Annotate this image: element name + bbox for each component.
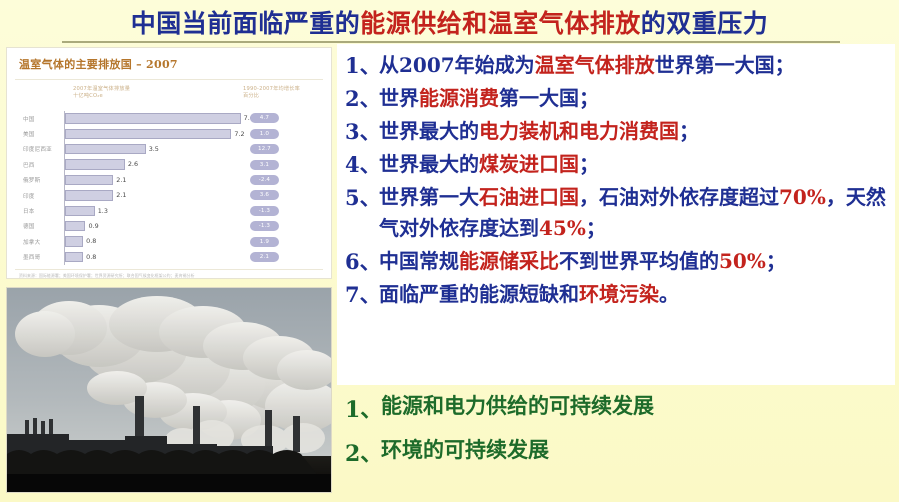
- slide-canvas: 中国当前面临严重的能源供给和温室气体排放的双重压力 温室气体的主要排放国 – 2…: [0, 0, 899, 502]
- chart-growth-pill: 12.7: [250, 144, 279, 154]
- chart-row-label: 印度: [15, 192, 64, 200]
- key-facts-panel: 1、从2007年始成为温室气体排放世界第一大国；2、世界能源消费第一大国；3、世…: [337, 44, 895, 385]
- chart-bar-track: 7.6: [64, 111, 236, 126]
- highlight-text: 50%: [719, 249, 766, 273]
- body-text: 世界第一大: [379, 185, 479, 209]
- chart-colhead-left-line2: 十亿吨CO₂e: [73, 93, 130, 100]
- chart-bar-track: 0.9: [64, 219, 236, 234]
- chart-bar-track: 1.3: [64, 203, 236, 218]
- goal-list-item-text: 环境的可持续发展: [381, 436, 549, 464]
- chart-row-label: 墨西哥: [15, 253, 64, 261]
- highlight-text: 45%: [539, 216, 586, 240]
- chart-row: 德国0.9-1.3: [15, 219, 323, 234]
- body-text: ，石油对外依存度超过: [579, 185, 779, 209]
- chart-bar: [65, 159, 125, 169]
- goal-list-item-text: 能源和电力供给的可持续发展: [381, 392, 654, 420]
- body-text: ；: [766, 249, 786, 273]
- chart-row: 美国7.21.0: [15, 126, 323, 141]
- chart-bar-track: 2.1: [64, 188, 236, 203]
- fact-list-item-number: 3、: [345, 116, 379, 146]
- chart-footer-divider: [15, 269, 323, 270]
- fact-list-item-text: 世界最大的煤炭进口国；: [379, 149, 889, 180]
- chart-bar: [65, 129, 232, 139]
- chart-bar-value: 0.8: [86, 253, 96, 261]
- blue-numbered-list: 1、从2007年始成为温室气体排放世界第一大国；2、世界能源消费第一大国；3、世…: [345, 50, 889, 312]
- chart-growth-pill: -2.4: [250, 175, 279, 185]
- emissions-chart-card: 温室气体的主要排放国 – 2007 2007年温室气体排放量 十亿吨CO₂e 1…: [6, 47, 332, 279]
- chart-bar-track: 2.6: [64, 157, 236, 172]
- green-goals-list: 1、能源和电力供给的可持续发展2、环境的可持续发展: [345, 392, 899, 480]
- chart-growth-pill: -1.3: [250, 221, 279, 231]
- chart-row-label: 印度尼西亚: [15, 145, 64, 153]
- chart-row: 墨西哥0.82.1: [15, 250, 323, 265]
- body-text: 从: [379, 53, 399, 77]
- chart-growth-pill: -1.3: [250, 206, 279, 216]
- chart-row-label: 日本: [15, 207, 64, 215]
- chart-bar: [65, 190, 114, 200]
- chart-row-label: 加拿大: [15, 238, 64, 246]
- chart-bar: [65, 221, 86, 231]
- fact-list-item: 2、世界能源消费第一大国；: [345, 83, 889, 114]
- fact-list-item: 6、中国常规能源储采比不到世界平均值的50%；: [345, 246, 889, 277]
- chart-bar-track: 7.2: [64, 126, 236, 141]
- fact-list-item: 4、世界最大的煤炭进口国；: [345, 149, 889, 180]
- body-text: 。: [659, 282, 679, 306]
- chart-bar-track: 0.8: [64, 234, 236, 249]
- highlight-text: 70%: [779, 185, 826, 209]
- highlight-text: 石油进口国: [479, 185, 579, 209]
- body-text: 不到世界平均值的: [559, 249, 719, 273]
- chart-bar-value: 0.8: [86, 237, 96, 245]
- body-text: 世界: [379, 86, 419, 110]
- fact-list-item-text: 世界第一大石油进口国，石油对外依存度超过70%，天然气对外依存度达到45%；: [379, 182, 889, 244]
- chart-bar-track: 2.1: [64, 173, 236, 188]
- chart-growth-cell: 3.6: [236, 188, 323, 203]
- chart-bar-track: 0.8: [64, 250, 236, 265]
- chart-column-header-left: 2007年温室气体排放量 十亿吨CO₂e: [73, 86, 130, 100]
- highlight-text: 温室气体排放: [535, 53, 655, 77]
- photo-illustration: [7, 288, 331, 492]
- chart-colhead-right-line1: 1990-2007年均增长率: [243, 86, 300, 93]
- chart-row: 中国7.64.7: [15, 111, 323, 126]
- chart-bar: [65, 175, 114, 185]
- body-text: ；: [586, 216, 606, 240]
- chart-growth-cell: -1.3: [236, 203, 323, 218]
- chart-growth-cell: 4.7: [236, 111, 323, 126]
- chart-row: 俄罗斯2.1-2.4: [15, 173, 323, 188]
- chart-title: 温室气体的主要排放国 – 2007: [19, 56, 323, 72]
- body-text: 2007: [399, 53, 455, 77]
- chart-column-headers: 2007年温室气体排放量 十亿吨CO₂e 1990-2007年均增长率 百分比: [15, 84, 323, 110]
- chart-bar-track: 3.5: [64, 142, 236, 157]
- goal-list-item: 2、环境的可持续发展: [345, 436, 899, 468]
- highlight-text: 能源消费: [419, 86, 499, 110]
- chart-row: 加拿大0.81.9: [15, 234, 323, 249]
- body-text: 世界最大的: [379, 119, 479, 143]
- goal-list-item-number: 2、: [345, 436, 381, 468]
- fact-list-item-text: 世界能源消费第一大国；: [379, 83, 889, 114]
- body-text: 第一大国；: [499, 86, 599, 110]
- chart-header-divider: [15, 79, 323, 80]
- highlight-text: 能源储采比: [459, 249, 559, 273]
- chart-growth-pill: 3.6: [250, 190, 279, 200]
- chart-bar: [65, 206, 95, 216]
- chart-growth-cell: -2.4: [236, 173, 323, 188]
- body-text: ；: [579, 152, 599, 176]
- chart-growth-cell: 2.1: [236, 250, 323, 265]
- chart-row-label: 美国: [15, 130, 64, 138]
- title-segment-2: 能源供给和温室气体排放: [360, 4, 641, 40]
- chart-growth-cell: -1.3: [236, 219, 323, 234]
- fact-list-item-number: 1、: [345, 50, 379, 80]
- fact-list-item-number: 6、: [345, 246, 379, 276]
- chart-growth-cell: 12.7: [236, 142, 323, 157]
- chart-growth-cell: 3.1: [236, 157, 323, 172]
- chart-growth-pill: 4.7: [250, 113, 279, 123]
- goal-list-item: 1、能源和电力供给的可持续发展: [345, 392, 899, 424]
- fact-list-item-text: 从2007年始成为温室气体排放世界第一大国；: [379, 50, 889, 81]
- body-text: 面临严重的能源短缺和: [379, 282, 579, 306]
- body-text: 世界第一大国；: [655, 53, 795, 77]
- chart-bar-rows: 中国7.64.7美国7.21.0印度尼西亚3.512.7巴西2.63.1俄罗斯2…: [15, 111, 323, 265]
- body-text: 世界最大的: [379, 152, 479, 176]
- chart-growth-pill: 1.0: [250, 129, 279, 139]
- fact-list-item-number: 7、: [345, 279, 379, 309]
- chart-colhead-right-line2: 百分比: [243, 93, 300, 100]
- power-plant-smokestack-photo: [6, 287, 332, 493]
- fact-list-item-text: 中国常规能源储采比不到世界平均值的50%；: [379, 246, 889, 277]
- chart-row-label: 俄罗斯: [15, 176, 64, 184]
- body-text: 年始成为: [455, 53, 535, 77]
- chart-bar-value: 3.5: [149, 145, 159, 153]
- chart-growth-pill: 2.1: [250, 252, 279, 262]
- chart-growth-cell: 1.9: [236, 234, 323, 249]
- fact-list-item-text: 面临严重的能源短缺和环境污染。: [379, 279, 889, 310]
- fact-list-item: 1、从2007年始成为温室气体排放世界第一大国；: [345, 50, 889, 81]
- chart-bar-value: 1.3: [98, 207, 108, 215]
- chart-bar: [65, 236, 84, 246]
- fact-list-item-number: 5、: [345, 182, 379, 212]
- highlight-text: 电力装机和电力消费国: [479, 119, 679, 143]
- goal-list-item-number: 1、: [345, 392, 381, 424]
- chart-row: 日本1.3-1.3: [15, 203, 323, 218]
- chart-colhead-left-line1: 2007年温室气体排放量: [73, 86, 130, 93]
- chart-bar-value: 2.1: [116, 191, 126, 199]
- highlight-text: 环境污染: [579, 282, 659, 306]
- chart-bar: [65, 144, 146, 154]
- chart-row: 巴西2.63.1: [15, 157, 323, 172]
- left-column: 温室气体的主要排放国 – 2007 2007年温室气体排放量 十亿吨CO₂e 1…: [6, 47, 332, 495]
- body-text: ；: [679, 119, 699, 143]
- chart-row-label: 德国: [15, 222, 64, 230]
- chart-row: 印度尼西亚3.512.7: [15, 142, 323, 157]
- fact-list-item: 5、世界第一大石油进口国，石油对外依存度超过70%，天然气对外依存度达到45%；: [345, 182, 889, 244]
- title-segment-3: 的双重压力: [641, 4, 769, 40]
- title-segment-1: 中国当前面临严重的: [131, 4, 361, 40]
- chart-row: 印度2.13.6: [15, 188, 323, 203]
- fact-list-item-number: 4、: [345, 149, 379, 179]
- fact-list-item-text: 世界最大的电力装机和电力消费国；: [379, 116, 889, 147]
- fact-list-item: 3、世界最大的电力装机和电力消费国；: [345, 116, 889, 147]
- chart-source-note: 资料来源：国际能源署；美国环境保护署；世界资源研究所；联合国气候变化框架公约；麦…: [15, 273, 323, 279]
- chart-bar: [65, 252, 84, 262]
- chart-growth-pill: 3.1: [250, 160, 279, 170]
- title-divider: [62, 41, 840, 43]
- chart-row-label: 中国: [15, 115, 64, 123]
- chart-column-header-right: 1990-2007年均增长率 百分比: [243, 86, 300, 100]
- chart-bar: [65, 113, 241, 123]
- chart-bar-value: 0.9: [88, 222, 98, 230]
- slide-title: 中国当前面临严重的能源供给和温室气体排放的双重压力: [0, 3, 899, 41]
- chart-growth-pill: 1.9: [250, 237, 279, 247]
- chart-bar-value: 2.6: [128, 160, 138, 168]
- chart-bar-value: 2.1: [116, 176, 126, 184]
- fact-list-item: 7、面临严重的能源短缺和环境污染。: [345, 279, 889, 310]
- highlight-text: 煤炭进口国: [479, 152, 579, 176]
- chart-growth-cell: 1.0: [236, 126, 323, 141]
- chart-row-label: 巴西: [15, 161, 64, 169]
- fact-list-item-number: 2、: [345, 83, 379, 113]
- body-text: 中国常规: [379, 249, 459, 273]
